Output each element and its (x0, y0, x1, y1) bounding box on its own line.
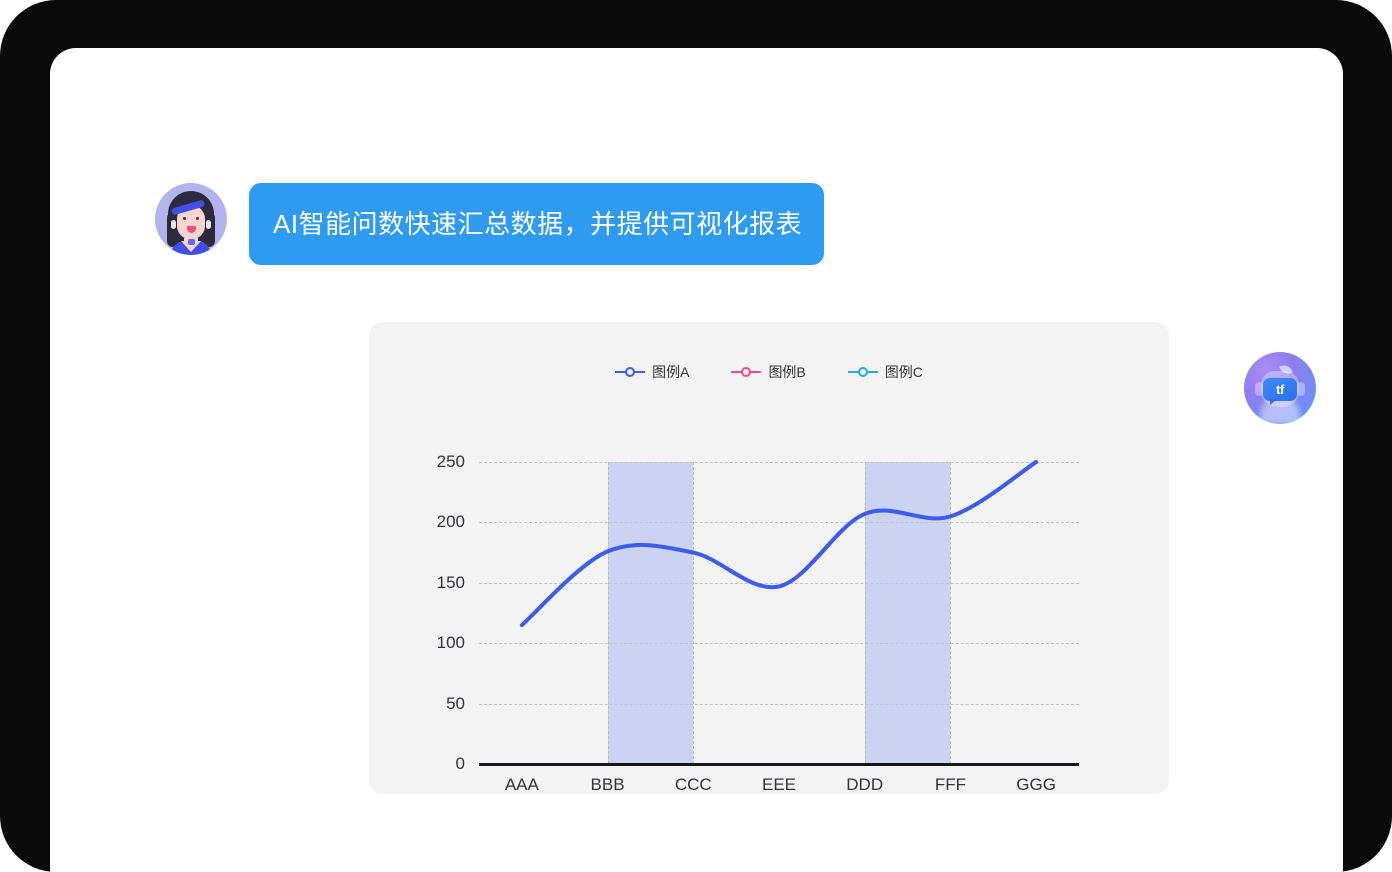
app-window-frame: AI智能问数快速汇总数据，并提供可视化报表 图例A图例B图例C 25020015… (0, 0, 1392, 872)
legend-marker-icon (731, 366, 761, 378)
x-axis-tick-label: GGG (1016, 775, 1056, 795)
app-white-card: AI智能问数快速汇总数据，并提供可视化报表 图例A图例B图例C 25020015… (50, 48, 1343, 872)
y-axis-tick-label: 200 (437, 512, 465, 532)
chart-legend: 图例A图例B图例C (369, 362, 1169, 382)
avatar-eye-right (196, 217, 199, 220)
y-axis-tick-label: 50 (446, 694, 465, 714)
chart-card: 图例A图例B图例C 250200150100500 AAABBBCCCEEEDD… (369, 322, 1169, 794)
x-axis-tick-label: BBB (591, 775, 625, 795)
y-axis-tick-label: 150 (437, 573, 465, 593)
avatar-ear-left (171, 220, 176, 229)
legend-item-3[interactable]: 图例C (848, 362, 923, 382)
legend-marker-icon (615, 366, 645, 378)
chart-plot-area: 250200150100500 AAABBBCCCEEEDDDFFFGGG (479, 462, 1079, 764)
line-path (522, 462, 1036, 625)
avatar (155, 183, 227, 255)
avatar-eye-left (183, 217, 186, 220)
x-axis-tick-label: FFF (935, 775, 966, 795)
legend-label: 图例B (768, 362, 805, 382)
x-axis-tick-label: DDD (846, 775, 883, 795)
chat-bubble-text: AI智能问数快速汇总数据，并提供可视化报表 (249, 183, 824, 265)
legend-item-1[interactable]: 图例A (615, 362, 689, 382)
legend-label: 图例C (885, 362, 923, 382)
bot-badge-label: tf (1263, 378, 1297, 401)
y-axis-tick-label: 250 (437, 452, 465, 472)
avatar-necklace-gem (188, 239, 195, 245)
y-axis-tick-label: 0 (456, 754, 465, 774)
legend-label: 图例A (652, 362, 689, 382)
x-axis-tick-label: AAA (505, 775, 539, 795)
chat-bot-badge[interactable]: tf (1244, 352, 1316, 424)
chat-message-row: AI智能问数快速汇总数据，并提供可视化报表 (155, 183, 824, 265)
legend-marker-icon (848, 366, 878, 378)
x-axis-line (479, 763, 1079, 766)
avatar-ear-right (206, 220, 211, 229)
series-line-图例A (479, 462, 1079, 764)
x-axis-tick-label: CCC (675, 775, 712, 795)
x-axis-tick-label: EEE (762, 775, 796, 795)
y-axis-tick-label: 100 (437, 633, 465, 653)
legend-item-2[interactable]: 图例B (731, 362, 805, 382)
